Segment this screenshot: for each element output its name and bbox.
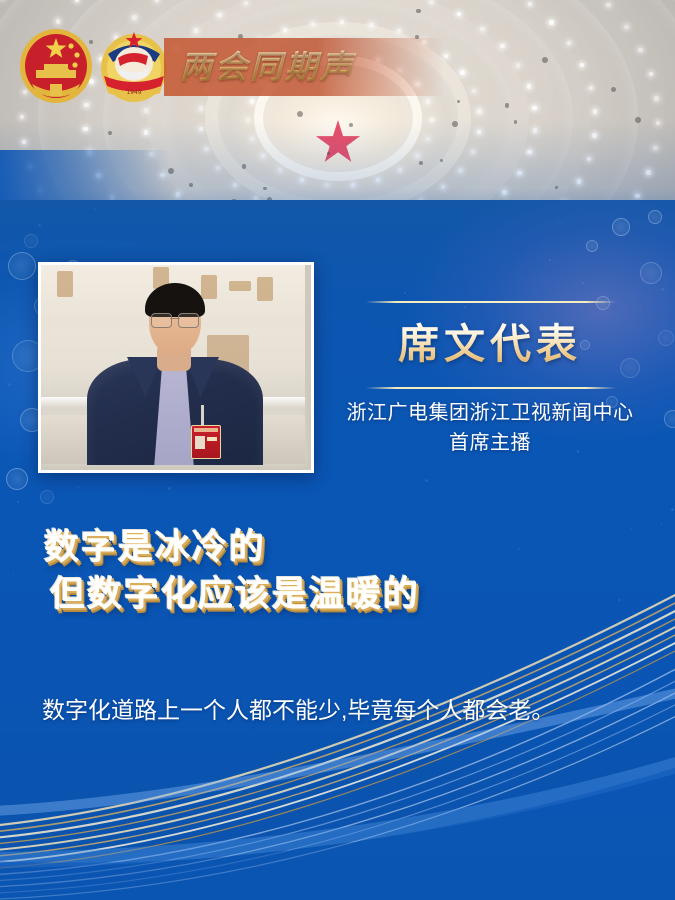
headline-line-2: 但数字化应该是温暖的 bbox=[44, 571, 644, 618]
quote-text: 数字化道路上一个人都不能少,毕竟每个人都会老。 bbox=[42, 693, 642, 727]
person-role: 浙江广电集团浙江卫视新闻中心 首席主播 bbox=[318, 398, 662, 458]
headline-line-1: 数字是冰冷的 bbox=[44, 524, 644, 571]
glasses-icon bbox=[151, 313, 199, 326]
national-emblem-icon bbox=[14, 24, 98, 110]
person-role-line-1: 浙江广电集团浙江卫视新闻中心 bbox=[318, 398, 662, 428]
person-name: 席文代表 bbox=[340, 313, 640, 375]
svg-text:1949: 1949 bbox=[126, 89, 141, 96]
conference-badge bbox=[191, 425, 221, 459]
footer: XINHUA 新华社国内部 摄影部 联合出品 bbox=[0, 836, 675, 898]
name-divider-top bbox=[366, 301, 616, 303]
portrait-photo bbox=[38, 262, 314, 473]
name-divider-bottom bbox=[366, 387, 616, 389]
headline: 数字是冰冷的 但数字化应该是温暖的 bbox=[44, 524, 644, 618]
person-role-line-2: 首席主播 bbox=[318, 428, 662, 458]
poster-root: 1949 两会同期声 bbox=[0, 0, 675, 900]
program-title: 两会同期声 bbox=[180, 44, 420, 90]
